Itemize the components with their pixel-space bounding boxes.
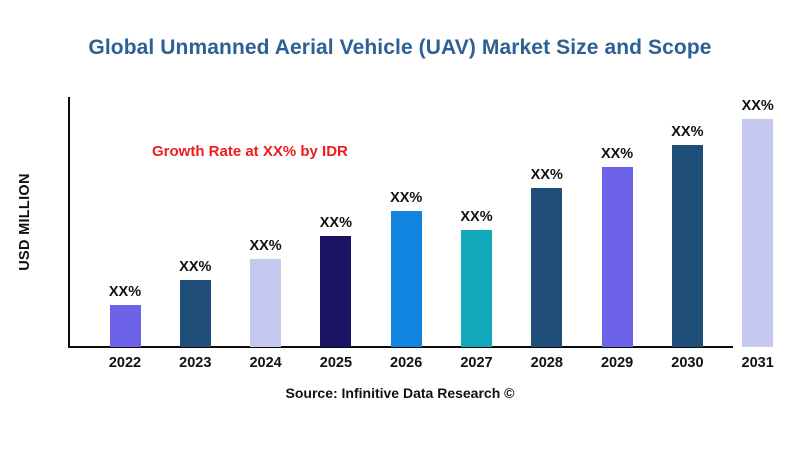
bar-group: XX% xyxy=(742,119,773,347)
x-axis-tick-label: 2026 xyxy=(390,355,422,371)
plot-area: XX%2022XX%2023XX%2024XX%2025XX%2026XX%20… xyxy=(0,0,800,450)
bar-group: XX% xyxy=(461,230,492,347)
bar-group: XX% xyxy=(672,145,703,347)
x-axis-tick-label: 2022 xyxy=(109,355,141,371)
bar[interactable] xyxy=(391,211,422,347)
bar-value-label: XX% xyxy=(460,209,492,225)
x-axis-tick-label: 2027 xyxy=(460,355,492,371)
x-axis-tick-label: 2025 xyxy=(320,355,352,371)
chart-container: Global Unmanned Aerial Vehicle (UAV) Mar… xyxy=(0,0,800,450)
bar-value-label: XX% xyxy=(249,238,281,254)
x-axis-tick-label: 2028 xyxy=(531,355,563,371)
bar-value-label: XX% xyxy=(531,167,563,183)
bar-group: XX% xyxy=(602,167,633,347)
bar[interactable] xyxy=(742,119,773,347)
bar-group: XX% xyxy=(320,236,351,347)
bar-value-label: XX% xyxy=(742,98,774,114)
bar[interactable] xyxy=(602,167,633,347)
bar-value-label: XX% xyxy=(179,259,211,275)
bar-value-label: XX% xyxy=(109,284,141,300)
bar[interactable] xyxy=(250,259,281,347)
bar[interactable] xyxy=(672,145,703,347)
bar[interactable] xyxy=(461,230,492,347)
x-axis-tick-label: 2031 xyxy=(742,355,774,371)
bar-group: XX% xyxy=(250,259,281,347)
bar[interactable] xyxy=(180,280,211,347)
bar-value-label: XX% xyxy=(671,124,703,140)
bar-value-label: XX% xyxy=(601,146,633,162)
bar-group: XX% xyxy=(180,280,211,347)
bar-group: XX% xyxy=(531,188,562,347)
bar-group: XX% xyxy=(110,305,141,347)
x-axis-tick-label: 2029 xyxy=(601,355,633,371)
x-axis-tick-label: 2024 xyxy=(249,355,281,371)
source-note: Source: Infinitive Data Research © xyxy=(0,385,800,401)
x-axis-tick-label: 2030 xyxy=(671,355,703,371)
bar[interactable] xyxy=(320,236,351,347)
bar-value-label: XX% xyxy=(390,190,422,206)
x-axis-tick-label: 2023 xyxy=(179,355,211,371)
bar[interactable] xyxy=(110,305,141,347)
bar-group: XX% xyxy=(391,211,422,347)
bar[interactable] xyxy=(531,188,562,347)
bar-value-label: XX% xyxy=(320,215,352,231)
